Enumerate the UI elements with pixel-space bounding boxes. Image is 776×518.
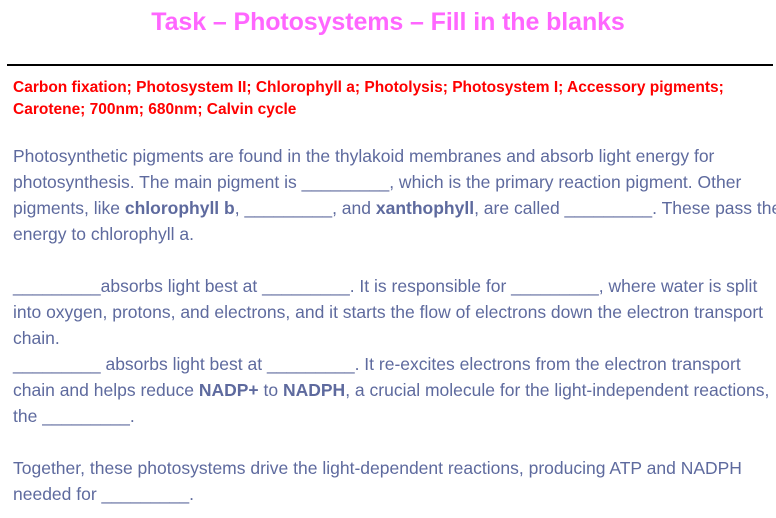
blank-9[interactable]: _________ — [42, 406, 130, 426]
word-bank-line-2: Carotene; 700nm; 680nm; Calvin cycle — [13, 99, 743, 121]
p4-text-2: . — [189, 484, 194, 504]
paragraph-summary: Together, these photosystems drive the l… — [13, 455, 776, 507]
p3-text-1: absorbs light best at — [101, 354, 267, 374]
blank-6[interactable]: _________ — [511, 276, 599, 296]
blank-3[interactable]: _________ — [565, 198, 653, 218]
paragraph-photosystem-one: _________ absorbs light best at ________… — [13, 351, 776, 429]
p3-text-3: to — [259, 380, 283, 400]
term-nadph: NADPH — [283, 380, 345, 400]
blank-10[interactable]: _________ — [102, 484, 190, 504]
word-bank: Carbon fixation; Photosystem II; Chlorop… — [13, 77, 743, 121]
paragraph-pigments: Photosynthetic pigments are found in the… — [13, 143, 776, 247]
p2-text-2: . It is responsible for — [350, 276, 511, 296]
blank-4[interactable]: _________ — [13, 276, 101, 296]
p1-text-3: , — [235, 198, 245, 218]
blank-5[interactable]: _________ — [262, 276, 350, 296]
term-chlorophyll-b: chlorophyll b — [125, 198, 235, 218]
blank-1[interactable]: _________ — [302, 172, 390, 192]
term-xanthophyll: xanthophyll — [376, 198, 474, 218]
worksheet-page: Task – Photosystems – Fill in the blanks… — [0, 0, 776, 518]
worksheet-body: Photosynthetic pigments are found in the… — [13, 143, 776, 507]
p1-text-5: , are called — [474, 198, 564, 218]
paragraph-photosystem-two: _________absorbs light best at _________… — [13, 273, 776, 351]
blank-8[interactable]: _________ — [267, 354, 355, 374]
page-title: Task – Photosystems – Fill in the blanks — [0, 6, 776, 38]
blank-2[interactable]: _________ — [244, 198, 332, 218]
p3-text-5: . — [130, 406, 135, 426]
p2-text-1: absorbs light best at — [101, 276, 262, 296]
title-divider — [7, 64, 773, 66]
term-nadp-plus: NADP+ — [199, 380, 259, 400]
p1-text-4: , and — [332, 198, 376, 218]
blank-7[interactable]: _________ — [13, 354, 101, 374]
paragraph-spacer-1 — [13, 247, 776, 273]
paragraph-spacer-2 — [13, 429, 776, 455]
word-bank-line-1: Carbon fixation; Photosystem II; Chlorop… — [13, 77, 743, 99]
